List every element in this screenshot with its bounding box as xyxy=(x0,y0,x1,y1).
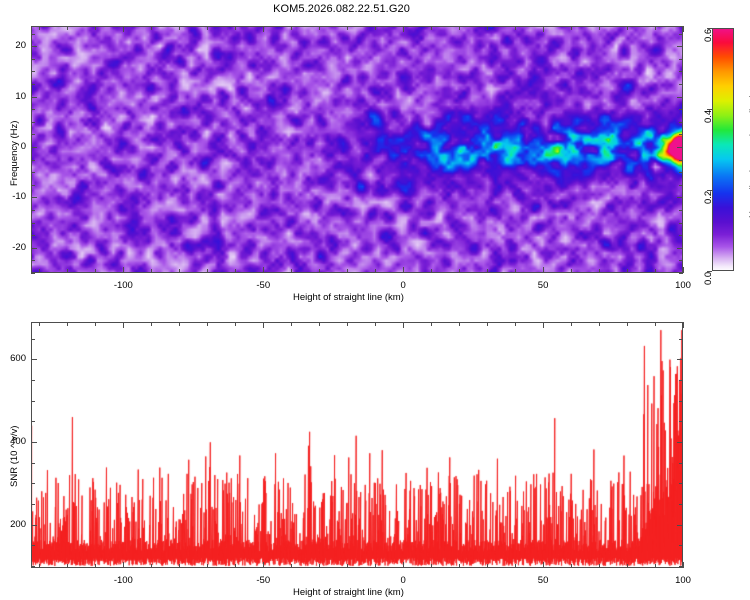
spectrogram-xtick-top xyxy=(459,26,460,30)
spectrogram-xtick-top xyxy=(235,26,236,30)
spectrogram-xtick-top xyxy=(319,26,320,30)
spectrogram-ytick xyxy=(31,197,37,198)
spectrogram-ytick xyxy=(31,71,35,72)
spectrogram-xtick xyxy=(627,269,628,273)
spectrogram-xticklabel: 100 xyxy=(669,280,697,291)
snr-xticklabel: -100 xyxy=(109,575,137,586)
spectrogram-ytick xyxy=(31,122,35,123)
figure-canvas: KOM5.2026.082.22.51.G20 -100-50050100-20… xyxy=(0,0,750,600)
spectrogram-ytick-right xyxy=(679,160,683,161)
spectrogram-ytick-right xyxy=(679,235,683,236)
snr-xtick xyxy=(459,564,460,568)
spectrogram-xtick xyxy=(235,269,236,273)
spectrogram-image xyxy=(31,26,683,273)
spectrogram-xtick-top xyxy=(599,26,600,30)
snr-yticklabel: 600 xyxy=(2,353,26,364)
spectrogram-xtick-top xyxy=(95,26,96,30)
snr-xtick xyxy=(543,562,544,568)
snr-ytick-right xyxy=(679,545,683,546)
spectrogram-ytick-right xyxy=(679,260,683,261)
spectrogram-ytick xyxy=(31,147,37,148)
spectrogram-xtick xyxy=(123,267,124,273)
snr-ytick-right xyxy=(679,483,683,484)
snr-xtick xyxy=(67,564,68,568)
snr-xtick-top xyxy=(123,322,124,328)
snr-ytick-right xyxy=(677,442,683,443)
spectrogram-xlabel: Height of straight line (km) xyxy=(293,292,404,303)
snr-ytick xyxy=(31,545,35,546)
spectrogram-xtick xyxy=(291,269,292,273)
spectrogram-ytick-right xyxy=(679,273,683,274)
spectrogram-xtick-top xyxy=(67,26,68,30)
snr-xtick-top xyxy=(571,322,572,326)
spectrogram-xtick-top xyxy=(39,26,40,30)
snr-ytick xyxy=(31,359,37,360)
spectrogram-ytick xyxy=(31,185,35,186)
spectrogram-ytick xyxy=(31,109,35,110)
snr-xtick xyxy=(291,564,292,568)
snr-ytick-right xyxy=(679,504,683,505)
spectrogram-xtick xyxy=(319,269,320,273)
snr-ytick xyxy=(31,566,35,567)
spectrogram-ytick-right xyxy=(677,248,683,249)
spectrogram-ytick-right xyxy=(679,71,683,72)
snr-xtick xyxy=(235,564,236,568)
snr-xtick xyxy=(655,564,656,568)
snr-xtick xyxy=(683,562,684,568)
snr-xtick-top xyxy=(683,322,684,328)
spectrogram-ytick xyxy=(31,46,37,47)
spectrogram-xtick-top xyxy=(543,26,544,32)
snr-xtick-top xyxy=(151,322,152,326)
snr-xtick xyxy=(515,564,516,568)
snr-ytick xyxy=(31,380,35,381)
spectrogram-ytick xyxy=(31,172,35,173)
snr-ytick-right xyxy=(679,421,683,422)
spectrogram-xtick-top xyxy=(375,26,376,30)
spectrogram-xtick-top xyxy=(403,26,404,32)
spectrogram-ytick xyxy=(31,34,35,35)
snr-ytick xyxy=(31,421,35,422)
spectrogram-xtick-top xyxy=(207,26,208,30)
spectrogram-ytick xyxy=(31,59,35,60)
spectrogram-xtick xyxy=(571,269,572,273)
spectrogram-xtick xyxy=(347,269,348,273)
snr-xtick xyxy=(627,564,628,568)
snr-ytick xyxy=(31,339,35,340)
spectrogram-ytick-right xyxy=(677,46,683,47)
snr-ytick xyxy=(31,442,37,443)
spectrogram-ytick-right xyxy=(679,84,683,85)
spectrogram-yticklabel: 10 xyxy=(6,91,26,102)
spectrogram-xtick-top xyxy=(151,26,152,30)
snr-xtick-top xyxy=(403,322,404,328)
spectrogram-ytick xyxy=(31,84,35,85)
spectrogram-xtick xyxy=(599,269,600,273)
page-title: KOM5.2026.082.22.51.G20 xyxy=(0,3,683,15)
spectrogram-yticklabel: 20 xyxy=(6,40,26,51)
spectrogram-xtick-top xyxy=(179,26,180,30)
spectrogram-xtick xyxy=(515,269,516,273)
spectrogram-ytick-right xyxy=(679,172,683,173)
spectrogram-xtick-top xyxy=(291,26,292,30)
snr-xtick-top xyxy=(39,322,40,326)
snr-ytick xyxy=(31,504,35,505)
snr-xtick-top xyxy=(543,322,544,328)
snr-xtick xyxy=(431,564,432,568)
snr-xticklabel: 50 xyxy=(529,575,557,586)
spectrogram-ytick-right xyxy=(679,109,683,110)
snr-ytick-right xyxy=(679,401,683,402)
snr-xtick-top xyxy=(67,322,68,326)
snr-xtick-top xyxy=(207,322,208,326)
snr-ytick xyxy=(31,463,35,464)
snr-yticklabel: 200 xyxy=(2,519,26,530)
spectrogram-ytick-right xyxy=(679,223,683,224)
spectrogram-xtick xyxy=(403,267,404,273)
snr-xtick xyxy=(599,564,600,568)
snr-xtick xyxy=(403,562,404,568)
spectrogram-xtick xyxy=(431,269,432,273)
snr-xtick-top xyxy=(515,322,516,326)
spectrogram-yticklabel: -20 xyxy=(6,242,26,253)
spectrogram-xtick xyxy=(543,267,544,273)
snr-ylabel: SNR (10 ^ v/v) xyxy=(9,426,20,487)
spectrogram-ytick-right xyxy=(679,59,683,60)
spectrogram-ytick xyxy=(31,273,35,274)
spectrogram-ytick xyxy=(31,160,35,161)
colorbar-ticklabel: 0.4 xyxy=(703,110,714,123)
spectrogram-xtick xyxy=(487,269,488,273)
snr-xticklabel: 0 xyxy=(389,575,417,586)
spectrogram-ytick-right xyxy=(679,34,683,35)
spectrogram-xticklabel: 50 xyxy=(529,280,557,291)
colorbar-gradient xyxy=(712,28,734,271)
snr-ytick xyxy=(31,525,37,526)
snr-xtick-top xyxy=(263,322,264,328)
snr-ytick-right xyxy=(677,359,683,360)
spectrogram-xtick xyxy=(459,269,460,273)
spectrogram-ytick xyxy=(31,210,35,211)
spectrogram-xticklabel: 0 xyxy=(389,280,417,291)
snr-xtick xyxy=(95,564,96,568)
spectrogram-xtick xyxy=(151,269,152,273)
snr-xtick xyxy=(151,564,152,568)
spectrogram-ytick-right xyxy=(679,210,683,211)
snr-panel xyxy=(31,322,683,568)
colorbar xyxy=(712,28,734,271)
snr-xtick xyxy=(347,564,348,568)
snr-ytick-right xyxy=(677,525,683,526)
spectrogram-xtick-top xyxy=(571,26,572,30)
spectrogram-xtick-top xyxy=(515,26,516,30)
spectrogram-ytick xyxy=(31,248,37,249)
snr-xtick-top xyxy=(95,322,96,326)
spectrogram-ytick-right xyxy=(677,147,683,148)
snr-xticklabel: -50 xyxy=(249,575,277,586)
snr-xtick xyxy=(571,564,572,568)
spectrogram-xtick-top xyxy=(627,26,628,30)
spectrogram-xtick-top xyxy=(263,26,264,32)
snr-xtick xyxy=(207,564,208,568)
snr-ytick xyxy=(31,401,35,402)
snr-ytick-right xyxy=(679,566,683,567)
snr-ytick-right xyxy=(679,380,683,381)
spectrogram-xtick-top xyxy=(487,26,488,30)
colorbar-ticklabel: 0.0 xyxy=(703,272,714,285)
spectrogram-ytick-right xyxy=(679,122,683,123)
snr-xtick-top xyxy=(459,322,460,326)
spectrogram-xtick-top xyxy=(431,26,432,30)
snr-xtick-top xyxy=(347,322,348,326)
colorbar-ticklabel: 0.2 xyxy=(703,191,714,204)
snr-xtick-top xyxy=(319,322,320,326)
colorbar-ticklabel: 0.6 xyxy=(703,29,714,42)
spectrogram-ytick xyxy=(31,260,35,261)
snr-xtick-top xyxy=(179,322,180,326)
snr-xtick-top xyxy=(627,322,628,326)
snr-xtick-top xyxy=(291,322,292,326)
spectrogram-ytick xyxy=(31,97,37,98)
snr-xtick-top xyxy=(599,322,600,326)
spectrogram-xticklabel: -50 xyxy=(249,280,277,291)
spectrogram-ytick xyxy=(31,134,35,135)
snr-xtick-top xyxy=(235,322,236,326)
spectrogram-xtick xyxy=(95,269,96,273)
snr-xtick xyxy=(319,564,320,568)
snr-xticklabel: 100 xyxy=(669,575,697,586)
snr-xtick xyxy=(39,564,40,568)
spectrogram-xtick-top xyxy=(123,26,124,32)
spectrogram-xtick xyxy=(207,269,208,273)
snr-ytick-right xyxy=(679,339,683,340)
spectrogram-panel xyxy=(31,26,683,273)
spectrogram-xtick xyxy=(39,269,40,273)
spectrogram-ytick-right xyxy=(677,197,683,198)
spectrogram-ylabel: Frequency (Hz) xyxy=(9,120,20,185)
snr-xtick-top xyxy=(375,322,376,326)
spectrogram-yticklabel: -10 xyxy=(6,191,26,202)
spectrogram-xtick xyxy=(179,269,180,273)
snr-ytick xyxy=(31,483,35,484)
spectrogram-xtick-top xyxy=(347,26,348,30)
snr-ytick-right xyxy=(679,463,683,464)
spectrogram-xtick xyxy=(375,269,376,273)
snr-xtick xyxy=(123,562,124,568)
spectrogram-xtick-top xyxy=(655,26,656,30)
spectrogram-ytick-right xyxy=(679,185,683,186)
snr-trace-plot xyxy=(31,322,683,568)
snr-xtick-top xyxy=(655,322,656,326)
spectrogram-xticklabel: -100 xyxy=(109,280,137,291)
snr-xlabel: Height of straight line (km) xyxy=(293,587,404,598)
spectrogram-xtick xyxy=(683,267,684,273)
spectrogram-xtick xyxy=(67,269,68,273)
spectrogram-xtick xyxy=(655,269,656,273)
snr-xtick xyxy=(487,564,488,568)
snr-xtick xyxy=(263,562,264,568)
spectrogram-ytick-right xyxy=(679,134,683,135)
snr-xtick-top xyxy=(431,322,432,326)
spectrogram-xtick-top xyxy=(683,26,684,32)
spectrogram-xtick xyxy=(263,267,264,273)
spectrogram-ytick-right xyxy=(677,97,683,98)
spectrogram-ytick xyxy=(31,235,35,236)
snr-xtick xyxy=(179,564,180,568)
snr-xtick xyxy=(375,564,376,568)
snr-xtick-top xyxy=(487,322,488,326)
spectrogram-ytick xyxy=(31,223,35,224)
